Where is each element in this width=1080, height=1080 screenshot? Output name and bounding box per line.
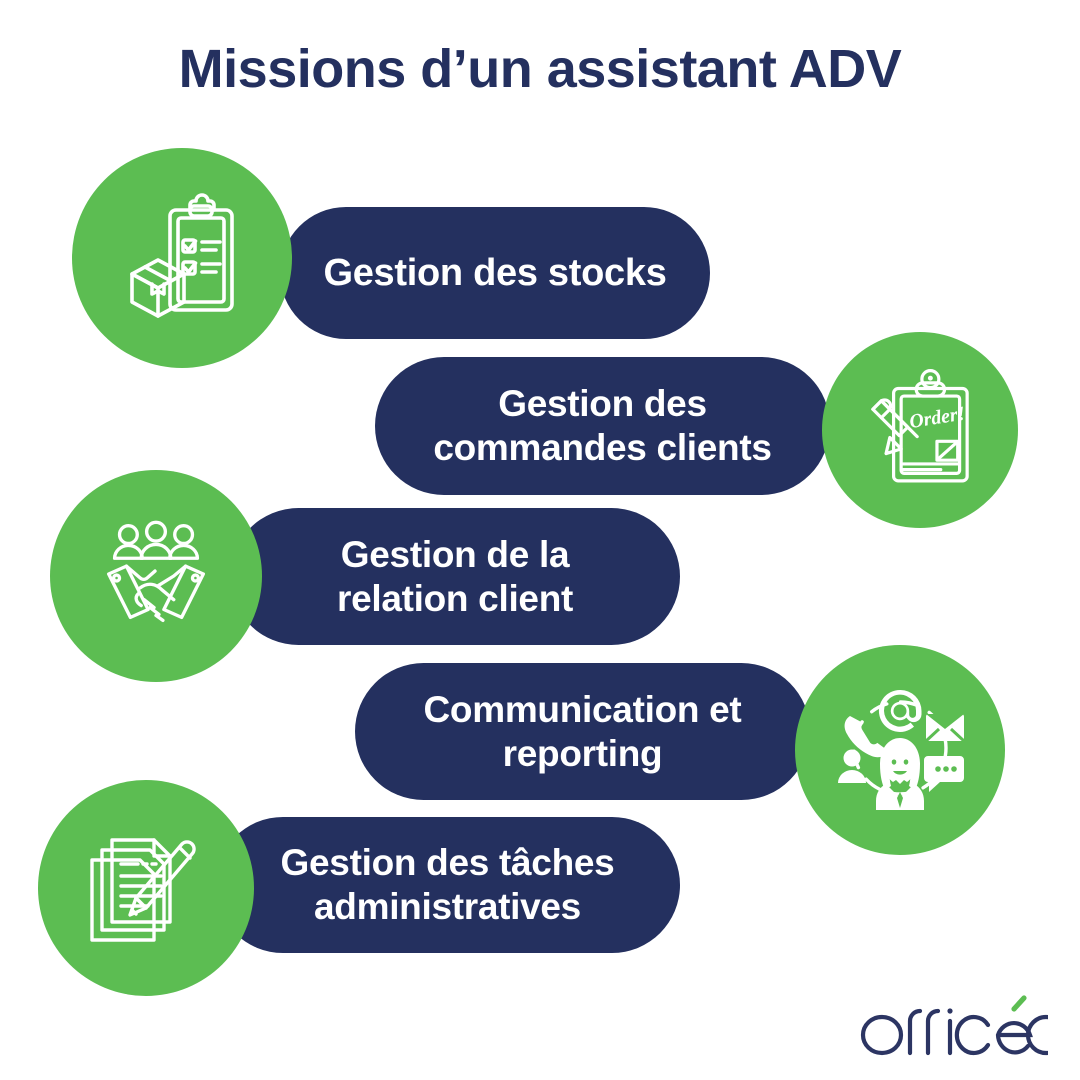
handshake-people-icon: [87, 507, 225, 645]
clipboard-checklist-box-icon: [112, 188, 252, 328]
mission-label-5: Gestion des tâches administratives: [263, 841, 633, 928]
mission-label-4: Communication et reporting: [406, 688, 760, 775]
mission-label-1: Gestion des stocks: [305, 251, 684, 296]
mission-pill-4[interactable]: Communication et reporting: [355, 663, 810, 800]
mission-icon-circle-1[interactable]: [72, 148, 292, 368]
order-clipboard-pencil-icon: Order!: [854, 364, 986, 496]
mission-pill-5[interactable]: Gestion des tâches administratives: [215, 817, 680, 953]
mission-icon-circle-3[interactable]: [50, 470, 262, 682]
mission-label-2: Gestion des commandes clients: [415, 382, 789, 469]
mission-icon-circle-4[interactable]: [795, 645, 1005, 855]
mission-icon-circle-5[interactable]: [38, 780, 254, 996]
svg-text:Order!: Order!: [908, 403, 967, 433]
mission-label-3: Gestion de la relation client: [319, 533, 591, 620]
mission-pill-1[interactable]: Gestion des stocks: [280, 207, 710, 339]
mission-pill-3[interactable]: Gestion de la relation client: [230, 508, 680, 645]
mission-icon-circle-2[interactable]: Order!: [822, 332, 1018, 528]
mission-pill-2[interactable]: Gestion des commandes clients: [375, 357, 830, 495]
infographic-canvas: Missions d’un assistant ADV Gestion des …: [0, 0, 1080, 1080]
documents-pencil-icon: [76, 818, 216, 958]
customer-support-communication-icon: [830, 680, 970, 820]
officeo-logo[interactable]: officéo: [858, 995, 1048, 1062]
page-title: Missions d’un assistant ADV: [0, 38, 1080, 100]
